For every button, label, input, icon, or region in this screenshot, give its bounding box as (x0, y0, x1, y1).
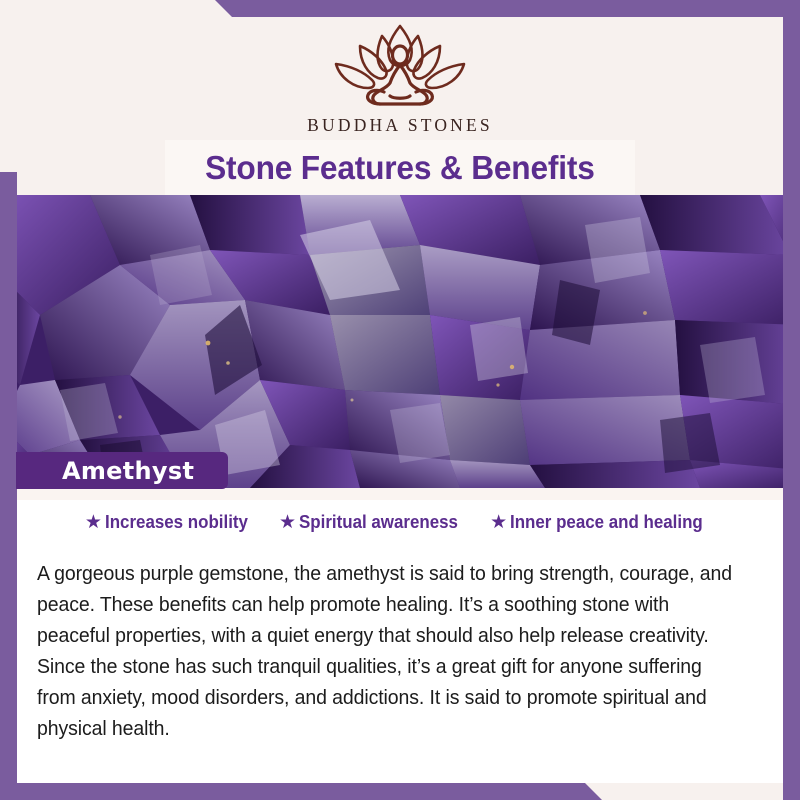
page-title-band: Stone Features & Benefits (165, 140, 635, 195)
stone-features-infographic: BUDDHA STONES Stone Features & Benefits (0, 0, 800, 800)
panel-top-strip (17, 488, 783, 500)
feature-label: Increases nobility (105, 512, 248, 533)
description-panel: ★ Increases nobility ★ Spiritual awarene… (17, 488, 783, 783)
star-icon: ★ (490, 513, 507, 532)
frame-accent-bottom (0, 783, 800, 800)
frame-accent-right (783, 0, 800, 800)
feature-item-inner-peace-and-healing: ★ Inner peace and healing (490, 512, 715, 533)
stone-name-banner: Amethyst (16, 452, 228, 489)
stone-description-text: A gorgeous purple gemstone, the amethyst… (37, 558, 735, 744)
star-icon: ★ (85, 513, 102, 532)
feature-label: Inner peace and healing (510, 512, 703, 533)
page-title: Stone Features & Benefits (205, 149, 595, 187)
feature-label: Spiritual awareness (299, 512, 458, 533)
star-icon: ★ (279, 513, 296, 532)
feature-list: ★ Increases nobility ★ Spiritual awarene… (17, 512, 783, 533)
feature-item-spiritual-awareness: ★ Spiritual awareness (279, 512, 468, 533)
stone-name-label: Amethyst (62, 457, 194, 485)
brand-logo-block: BUDDHA STONES (0, 20, 800, 136)
brand-wordmark: BUDDHA STONES (0, 115, 800, 136)
frame-accent-left (0, 172, 17, 800)
feature-item-increases-nobility: ★ Increases nobility (85, 512, 257, 533)
amethyst-hero-image (0, 195, 800, 488)
lotus-meditation-figure-icon (310, 20, 490, 112)
amethyst-crystal-cluster-graphic (0, 195, 800, 488)
